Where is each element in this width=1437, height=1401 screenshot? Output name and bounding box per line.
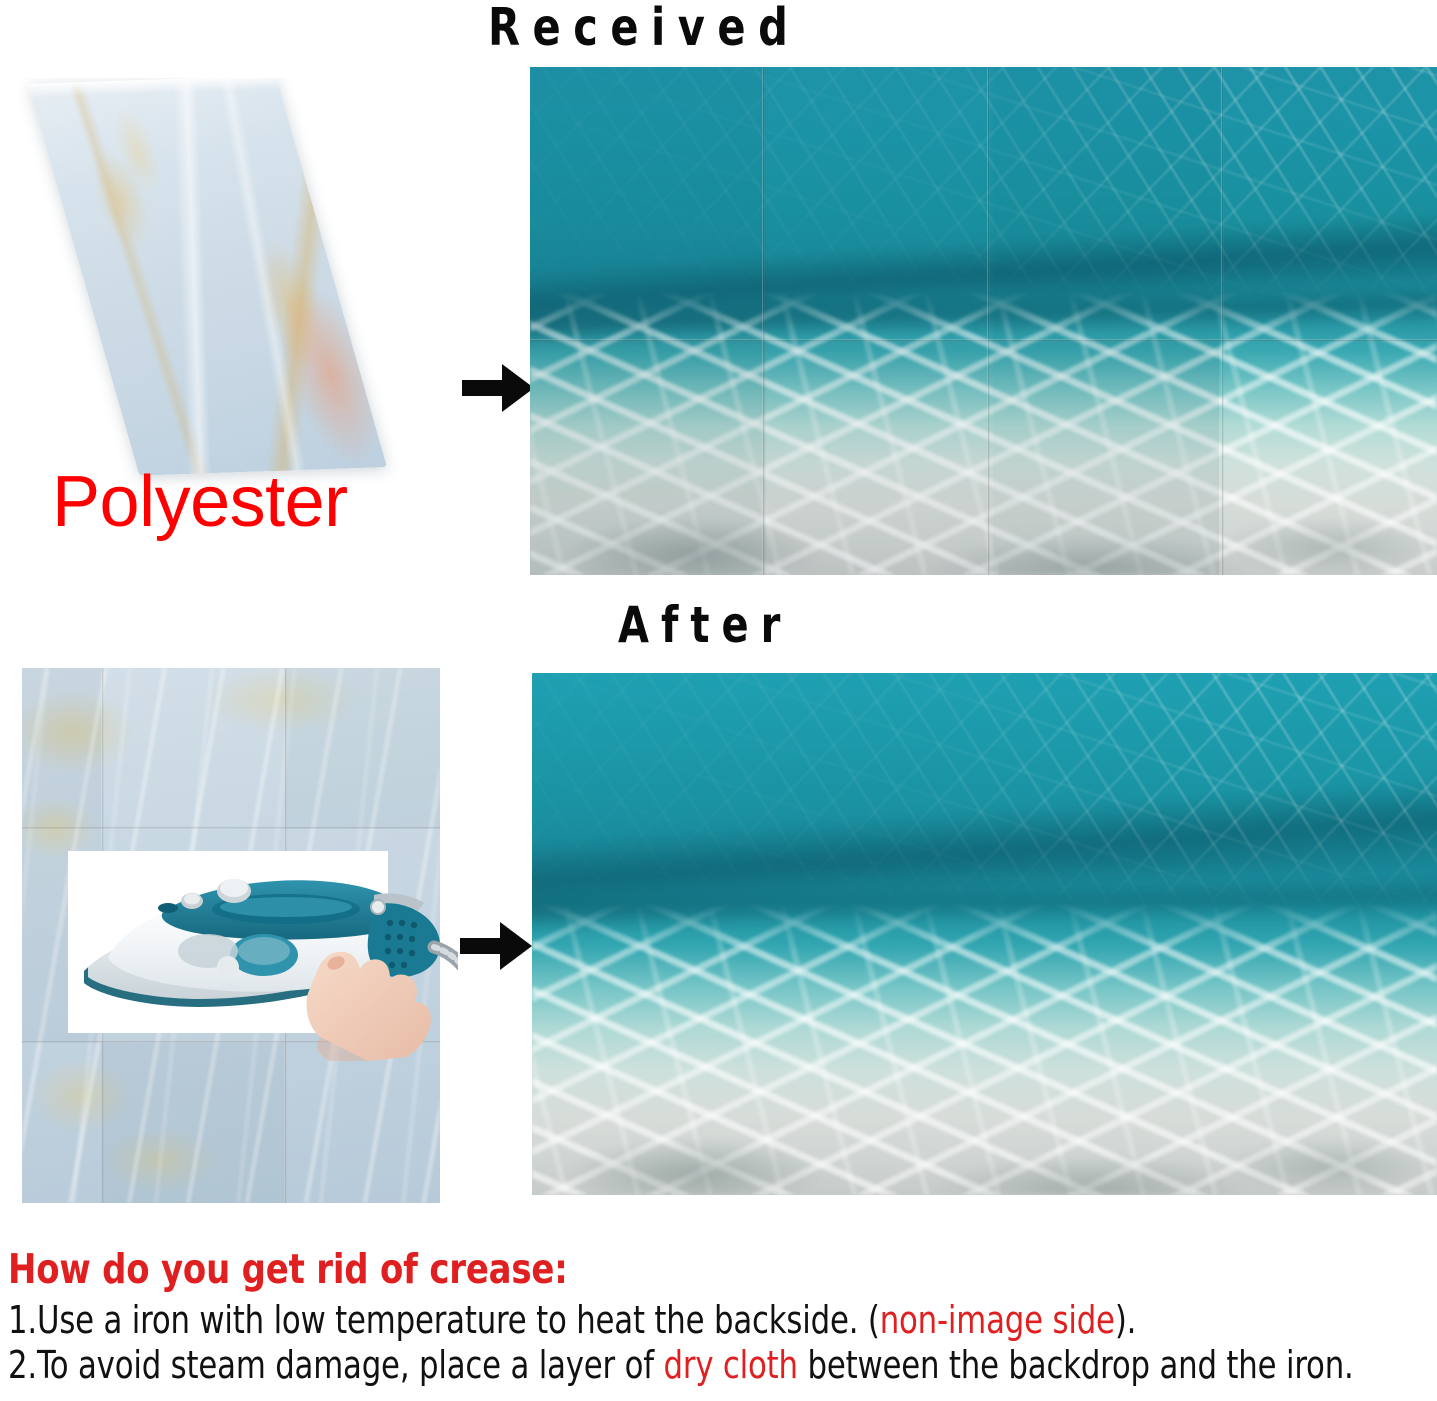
after-heading: After [618,600,792,650]
sand-shading [532,1018,1437,1195]
instruction-2-tail: between the backdrop and the iron. [798,1343,1354,1387]
material-label: Polyester [52,466,348,538]
instruction-2-text: 2.To avoid steam damage, place a layer o… [8,1343,663,1387]
instruction-1-text: 1.Use a iron with low temperature to hea… [8,1298,880,1342]
water-surface-caustics [532,673,1437,913]
received-backdrop-photo [530,67,1437,575]
received-heading: Received [488,2,800,54]
folded-fabric-sheet [28,78,387,476]
instruction-1-highlight: non-image side [880,1298,1115,1342]
sand-shading [530,402,1437,575]
steam-iron-photo [68,851,388,1033]
right-arrow-icon [462,360,536,416]
fabric-streaks [28,78,387,476]
right-arrow-icon [460,918,534,974]
folded-swatch-photo [18,78,418,488]
instructions-title: How do you get rid of crease: [8,1248,1319,1291]
after-backdrop-photo [532,673,1437,1195]
instruction-line-1: 1.Use a iron with low temperature to hea… [8,1298,1291,1343]
water-surface-caustics [530,67,1437,301]
instruction-1-tail: ). [1115,1298,1136,1342]
instruction-line-2: 2.To avoid steam damage, place a layer o… [8,1343,1291,1388]
instructions-block: How do you get rid of crease: 1.Use a ir… [8,1248,1433,1388]
instruction-2-highlight: dry cloth [663,1343,797,1387]
